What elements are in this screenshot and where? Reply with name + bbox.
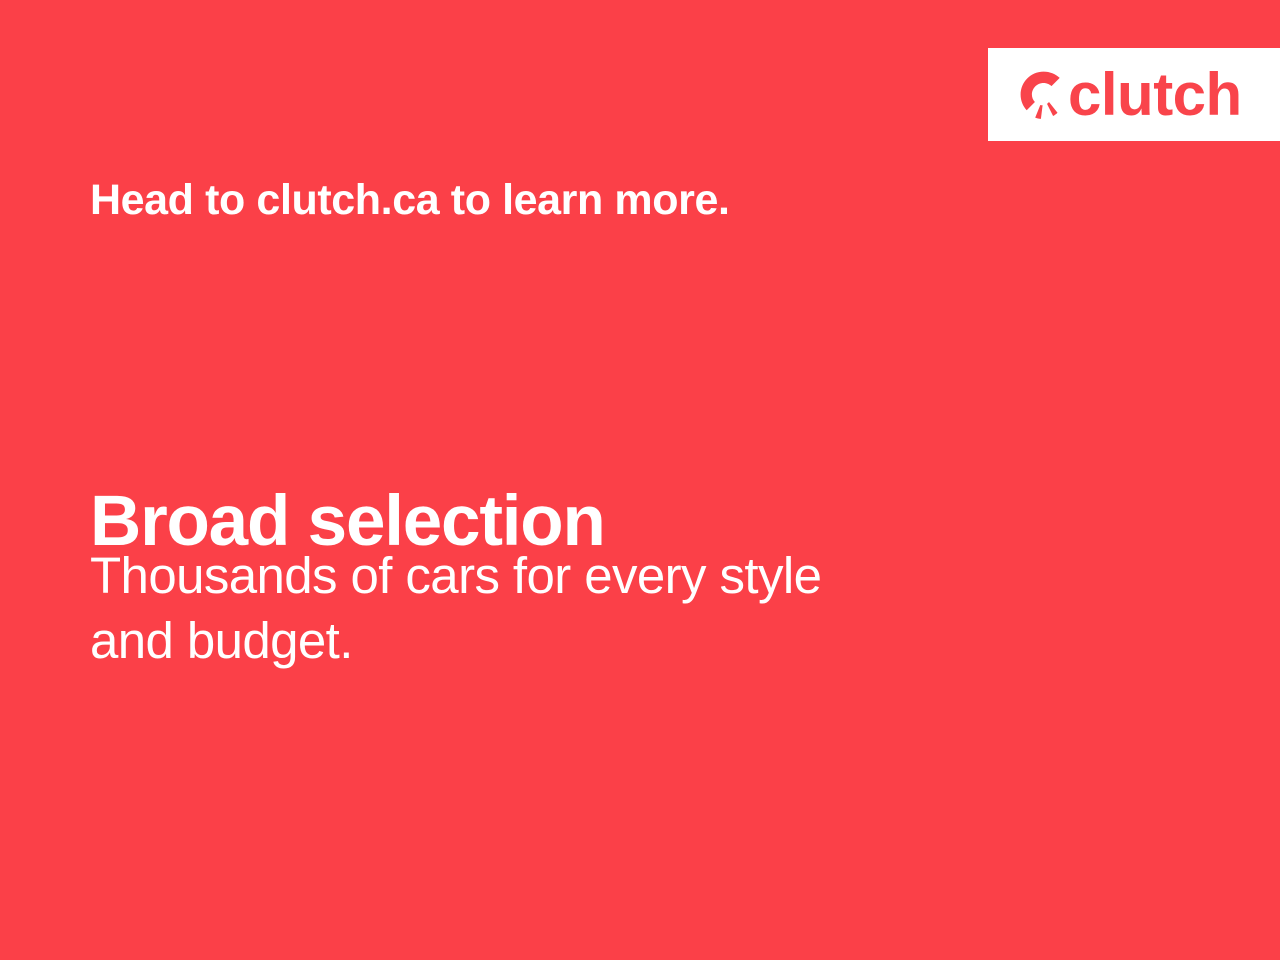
subhead-line: Thousands of cars for every style xyxy=(90,543,1090,608)
eyebrow-text: Head to clutch.ca to learn more. xyxy=(90,176,730,225)
brand-logo-plate: clutch xyxy=(988,48,1280,141)
promo-slide: clutch Head to clutch.ca to learn more. … xyxy=(0,0,1280,960)
subhead-line: and budget. xyxy=(90,608,1090,673)
subhead-text: Thousands of cars for every style and bu… xyxy=(90,543,1090,674)
brand-wordmark: clutch xyxy=(1068,65,1242,125)
clutch-plate-c-icon xyxy=(1020,71,1066,121)
